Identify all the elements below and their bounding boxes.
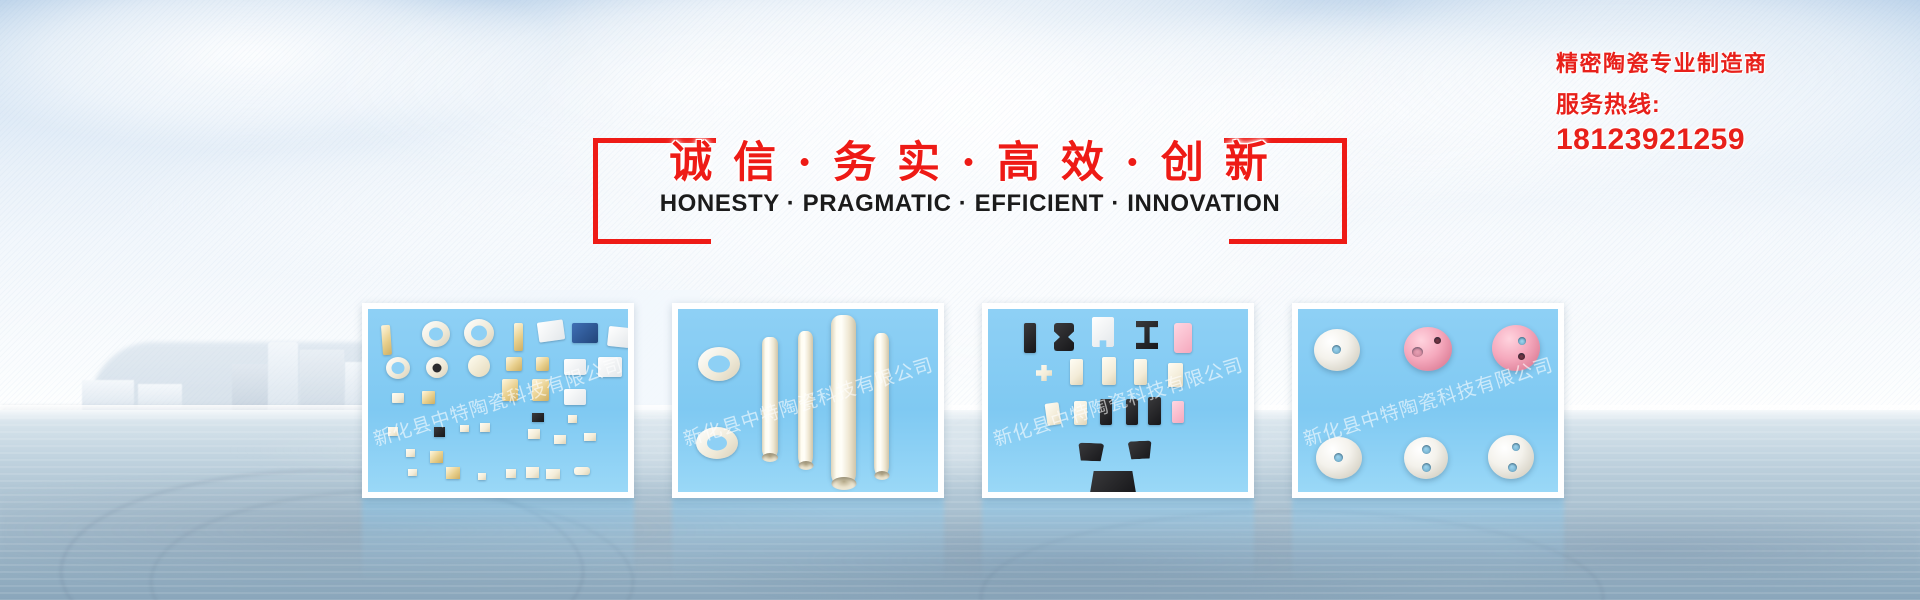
product-part [480, 423, 490, 432]
product-panel-row: 新化县中特陶瓷科技有限公司 新化县中特陶瓷科技有限公司 [362, 303, 1562, 498]
product-part [598, 357, 622, 377]
panel-reflection [672, 497, 944, 583]
product-panel-smd-chips[interactable]: 新化县中特陶瓷科技有限公司 [362, 303, 634, 498]
product-part [422, 391, 435, 404]
product-part [1074, 401, 1087, 425]
panel-reflection [362, 497, 634, 583]
product-part [526, 467, 539, 478]
product-part [426, 357, 448, 378]
hotline-phone-number[interactable]: 18123921259 [1556, 123, 1896, 156]
product-part [464, 319, 494, 347]
panel-image-tubes: 新化县中特陶瓷科技有限公司 [678, 309, 938, 492]
product-part [386, 357, 410, 379]
product-part [1054, 323, 1074, 351]
product-part [434, 427, 445, 437]
contact-block: 精密陶瓷专业制造商 服务热线: 18123921259 [1556, 52, 1896, 156]
product-part [1168, 363, 1183, 387]
product-part [532, 413, 544, 422]
product-part [430, 451, 443, 463]
product-part [1100, 399, 1112, 425]
product-part [392, 393, 404, 403]
product-part [1045, 402, 1062, 426]
image-watermark: 新化县中特陶瓷科技有限公司 [990, 350, 1247, 452]
slogan-block: 诚 信 · 务 实 · 高 效 · 创 新 HONESTY · PRAGMATI… [575, 128, 1365, 240]
product-part [1024, 323, 1036, 353]
product-part [1128, 440, 1153, 459]
company-tagline: 精密陶瓷专业制造商 [1556, 52, 1896, 76]
product-part [1404, 327, 1452, 371]
panel-reflection [1292, 497, 1564, 583]
product-panel-tubes[interactable]: 新化县中特陶瓷科技有限公司 [672, 303, 944, 498]
product-part [381, 325, 392, 356]
product-part [1492, 325, 1540, 371]
panel-image-discs: 新化县中特陶瓷科技有限公司 [1298, 309, 1558, 492]
product-part [1136, 321, 1158, 349]
product-part [564, 359, 586, 375]
product-part [584, 433, 596, 441]
product-panel-discs[interactable]: 新化县中特陶瓷科技有限公司 [1292, 303, 1564, 498]
product-part [1174, 323, 1192, 353]
product-part [406, 449, 415, 457]
product-part [506, 469, 516, 478]
product-part [564, 389, 586, 405]
product-part [1126, 399, 1138, 425]
slogan-english: HONESTY · PRAGMATIC · EFFICIENT · INNOVA… [575, 190, 1365, 218]
panel-image-smd-chips: 新化县中特陶瓷科技有限公司 [368, 309, 628, 492]
panel-reflections [0, 497, 1920, 597]
product-part [762, 337, 778, 459]
product-panel-assorted[interactable]: 新化县中特陶瓷科技有限公司 [982, 303, 1254, 498]
product-part [1102, 357, 1116, 385]
product-part [468, 355, 490, 377]
product-part [798, 331, 813, 467]
panel-image-assorted: 新化县中特陶瓷科技有限公司 [988, 309, 1248, 492]
product-part [1090, 471, 1136, 492]
product-part [546, 469, 560, 479]
hero-banner: 诚 信 · 务 实 · 高 效 · 创 新 HONESTY · PRAGMATI… [0, 0, 1920, 600]
product-part [574, 467, 590, 475]
product-part [568, 415, 577, 423]
product-part [1070, 359, 1083, 385]
product-part [831, 315, 856, 487]
product-part [1172, 401, 1184, 423]
product-part [554, 435, 566, 444]
panel-reflection [982, 497, 1254, 583]
product-part [528, 429, 540, 439]
product-part [1488, 435, 1534, 479]
hotline-label: 服务热线: [1556, 92, 1896, 117]
product-part [514, 323, 523, 351]
product-part [1092, 317, 1114, 347]
product-part [532, 379, 549, 401]
product-part [478, 473, 486, 480]
slogan-chinese: 诚 信 · 务 实 · 高 效 · 创 新 [575, 128, 1365, 190]
product-part [1134, 359, 1147, 385]
product-part [537, 319, 566, 342]
product-part [460, 425, 469, 432]
product-part [422, 321, 450, 347]
product-part [446, 467, 460, 479]
product-part [408, 469, 417, 476]
product-part [1404, 437, 1448, 479]
product-part [607, 326, 628, 348]
product-part [1078, 443, 1105, 462]
product-part [874, 333, 889, 477]
product-part [572, 323, 598, 343]
product-part [696, 427, 738, 459]
product-part [698, 347, 740, 381]
product-part [1314, 329, 1360, 371]
product-part [502, 379, 518, 401]
product-part [536, 357, 549, 371]
product-part [1316, 437, 1362, 479]
product-part [388, 427, 398, 436]
product-part [1148, 397, 1161, 425]
product-part [506, 357, 522, 371]
product-part [1036, 365, 1052, 381]
